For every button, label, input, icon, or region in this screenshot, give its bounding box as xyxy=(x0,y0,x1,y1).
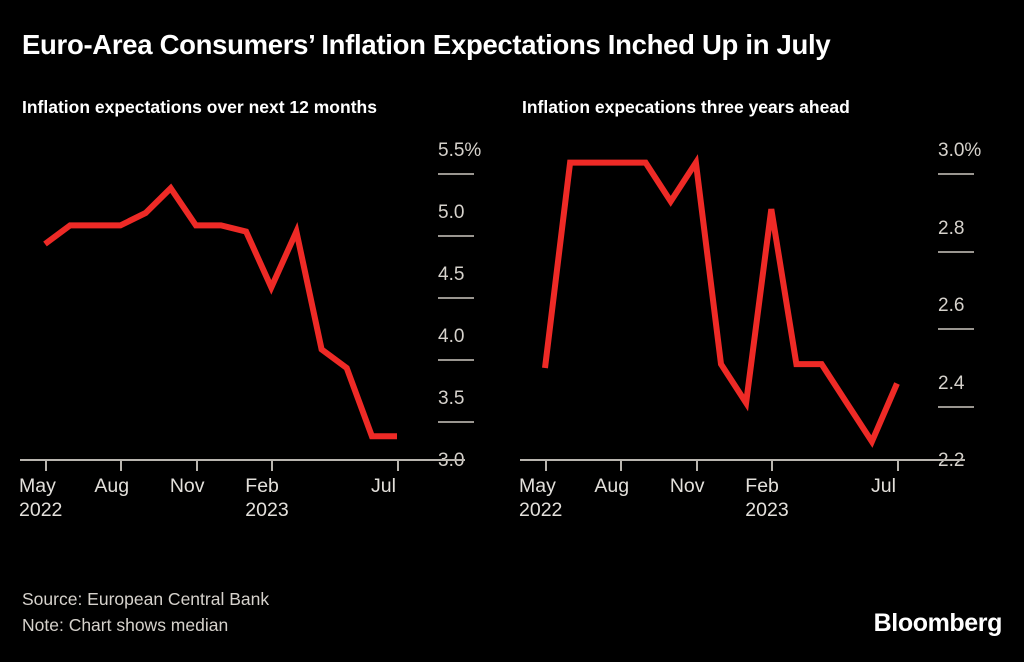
y-tick-label: 4.5 xyxy=(438,264,464,286)
y-tick-mark xyxy=(938,328,974,330)
x-tick-mark xyxy=(545,461,547,471)
x-tick-label: Nov xyxy=(670,474,705,498)
x-tick-label: Jul xyxy=(371,474,396,498)
x-tick-label: Jul xyxy=(871,474,896,498)
y-tick-mark xyxy=(938,251,974,253)
x-tick-label: Feb2023 xyxy=(745,474,788,523)
y-tick-mark xyxy=(438,421,474,423)
y-tick-mark xyxy=(938,173,974,175)
y-tick-label: 3.0% xyxy=(938,140,981,162)
x-tick-year: 2022 xyxy=(519,498,562,522)
x-tick-year: 2023 xyxy=(745,498,788,522)
x-tick-mark xyxy=(45,461,47,471)
source-text: Source: European Central Bank xyxy=(22,586,269,612)
y-tick-mark xyxy=(438,173,474,175)
y-tick-mark xyxy=(438,359,474,361)
x-tick-year: 2023 xyxy=(245,498,288,522)
plot-area-left xyxy=(20,151,465,461)
x-tick-label: Aug xyxy=(594,474,629,498)
line-chart-left-svg xyxy=(20,151,465,461)
x-tick-mark xyxy=(696,461,698,471)
y-axis-right: 3.0%2.82.62.42.2 xyxy=(930,151,1010,461)
bloomberg-logo: Bloomberg xyxy=(874,609,1002,638)
page-title: Euro-Area Consumers’ Inflation Expectati… xyxy=(22,30,982,60)
x-tick-year: 2022 xyxy=(19,498,62,522)
y-tick-label: 3.5 xyxy=(438,388,464,410)
y-tick-label: 3.0 xyxy=(438,450,464,472)
y-tick-label: 2.6 xyxy=(938,295,964,317)
plot-area-right xyxy=(520,151,965,461)
y-tick-label: 5.5% xyxy=(438,140,481,162)
y-tick-label: 2.8 xyxy=(938,218,964,240)
chart-subtitle-left: Inflation expectations over next 12 mont… xyxy=(22,96,422,118)
data-line-left xyxy=(45,188,397,436)
chart-page: Euro-Area Consumers’ Inflation Expectati… xyxy=(0,0,1024,662)
y-tick-mark xyxy=(438,297,474,299)
x-tick-mark xyxy=(397,461,399,471)
footer: Source: European Central Bank Note: Char… xyxy=(22,586,269,639)
y-tick-label: 2.4 xyxy=(938,373,964,395)
x-tick-label: May2022 xyxy=(19,474,62,523)
data-line-right xyxy=(545,163,897,442)
x-tick-label: May2022 xyxy=(519,474,562,523)
x-tick-mark xyxy=(771,461,773,471)
y-axis-left: 5.5%5.04.54.03.53.0 xyxy=(430,151,510,461)
x-tick-mark xyxy=(620,461,622,471)
x-tick-mark xyxy=(271,461,273,471)
y-tick-mark xyxy=(938,406,974,408)
line-chart-right-svg xyxy=(520,151,965,461)
x-tick-mark xyxy=(120,461,122,471)
x-tick-label: Aug xyxy=(94,474,129,498)
y-tick-mark xyxy=(438,235,474,237)
x-tick-mark xyxy=(897,461,899,471)
x-tick-label: Feb2023 xyxy=(245,474,288,523)
x-tick-mark xyxy=(196,461,198,471)
y-tick-label: 5.0 xyxy=(438,202,464,224)
chart-panel-right: Inflation expecations three years ahead … xyxy=(500,96,1024,546)
chart-subtitle-right: Inflation expecations three years ahead xyxy=(522,96,992,118)
y-tick-label: 2.2 xyxy=(938,450,964,472)
x-tick-label: Nov xyxy=(170,474,205,498)
chart-panel-left: Inflation expectations over next 12 mont… xyxy=(0,96,500,546)
y-tick-label: 4.0 xyxy=(438,326,464,348)
note-text: Note: Chart shows median xyxy=(22,612,269,638)
